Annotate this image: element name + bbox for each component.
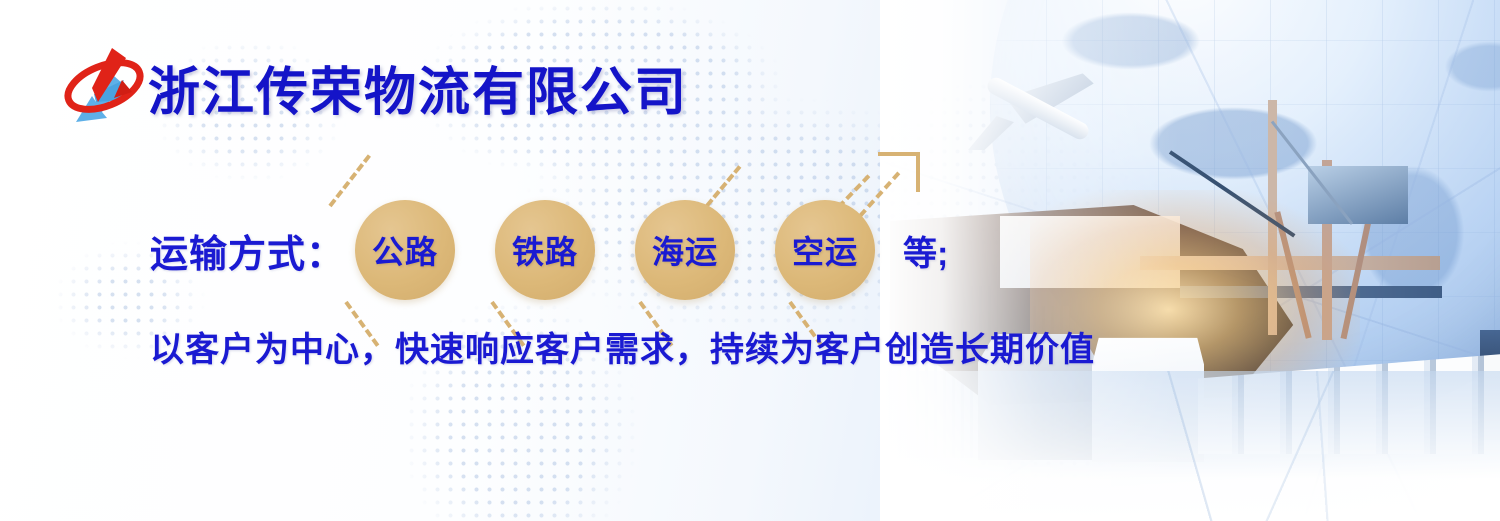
transport-mode-air[interactable]: 空运 [775,200,875,300]
decor-arrow-bracket [878,152,920,192]
transport-mode-sea[interactable]: 海运 [635,200,735,300]
transport-mode-rail-label: 铁路 [512,227,578,273]
transport-modes-suffix: 等; [903,226,948,275]
transport-mode-rail[interactable]: 铁路 [495,200,595,300]
transport-modes-row: 运输方式： 公路 铁路 海运 空运 等; [150,196,948,304]
chuanrong-logistics-logo [52,36,156,140]
transport-mode-sea-label: 海运 [652,227,718,273]
transport-mode-road-label: 公路 [372,227,438,273]
logistics-photo-composite [880,0,1500,521]
transport-modes-label: 运输方式： [150,223,345,278]
ground-network-lines [880,371,1500,521]
company-banner: 浙江传荣物流有限公司 运输方式： 公路 铁路 海运 空运 等; 以客户为中心，快… [0,0,1500,521]
transport-mode-air-label: 空运 [792,227,858,273]
airplane-tail [968,116,1014,150]
logo-red-swoosh [61,48,146,119]
transport-mode-road[interactable]: 公路 [355,200,455,300]
airplane-photo [962,54,1112,158]
company-title: 浙江传荣物流有限公司 [148,50,688,125]
company-tagline: 以客户为中心，快速响应客户需求，持续为客户创造长期价值 [150,322,1095,371]
